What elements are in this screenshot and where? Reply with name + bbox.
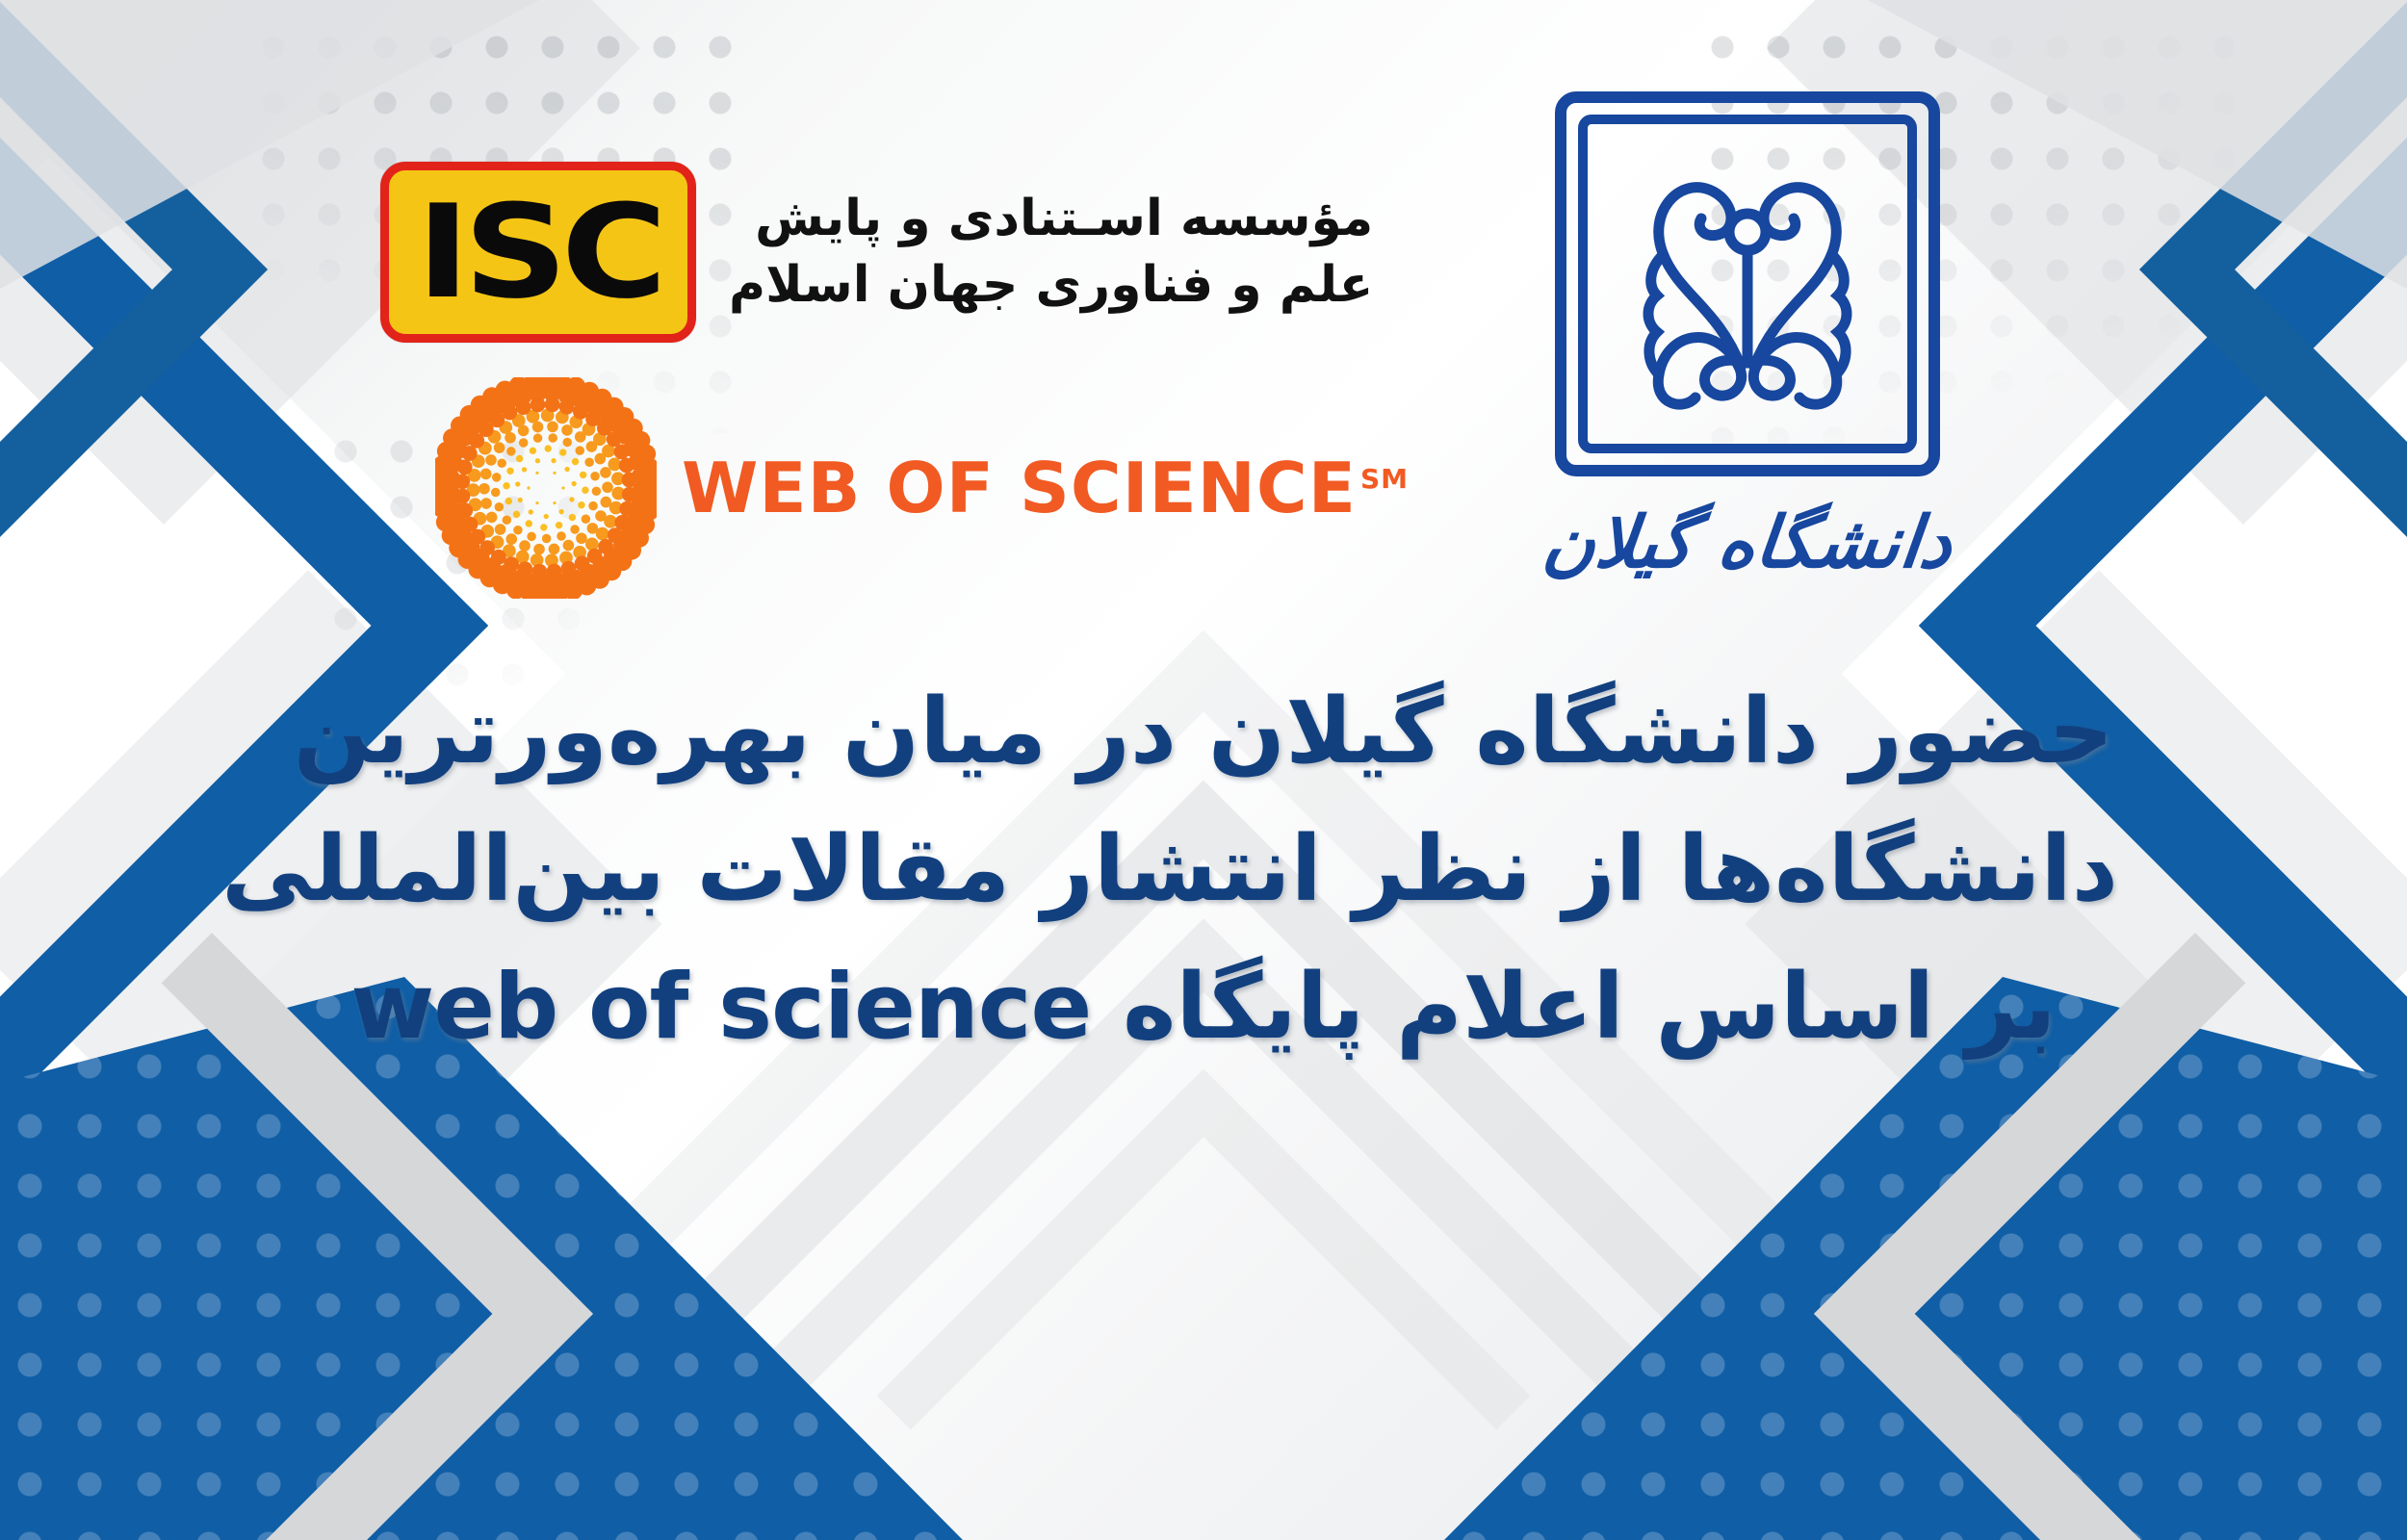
headline-line-3: بر اساس اعلام پایگاه web of science	[289, 939, 2118, 1077]
headline-line-3-prefix: بر اساس اعلام پایگاه	[1091, 955, 2056, 1060]
headline-line-1: حضور دانشگاه گیلان در میان بهره‌ورترین	[289, 664, 2118, 802]
headline: حضور دانشگاه گیلان در میان بهره‌ورترین د…	[0, 664, 2407, 1077]
headline-line-3-latin: web of science	[350, 939, 1091, 1077]
poster-canvas: مؤسسه اسـتنادی و پایش علم و فناوری جهان …	[0, 0, 2407, 1540]
headline-line-2: دانشگاه‌ها از نظر انتشار مقالات بین‌المل…	[289, 802, 2118, 939]
